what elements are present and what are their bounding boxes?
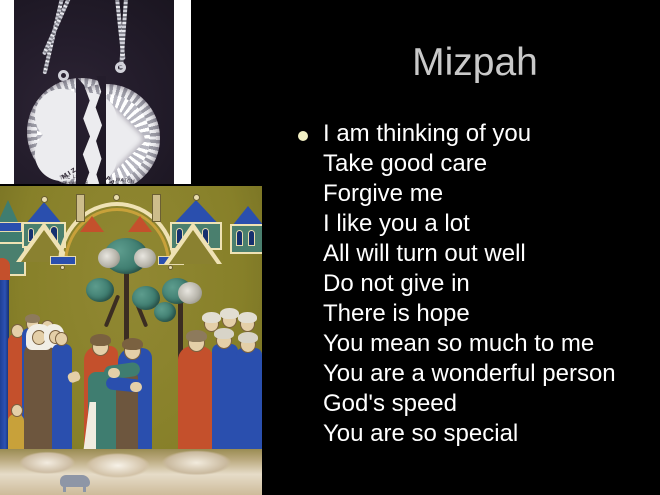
list-item-label: All will turn out well	[323, 240, 526, 267]
list-item: Forgive me	[296, 179, 656, 209]
list-item: Take good care	[296, 149, 656, 179]
list-item: All will turn out well	[296, 239, 656, 269]
arch-finial	[113, 194, 120, 201]
list-item-label: There is hope	[323, 300, 470, 327]
list-item: I am thinking of you	[296, 119, 656, 149]
medieval-manuscript-image	[0, 186, 262, 495]
figure-hair	[238, 312, 257, 323]
list-item: I like you a lot	[296, 209, 656, 239]
list-item-label: God's speed	[323, 390, 457, 417]
roof-finial	[193, 194, 200, 201]
list-item-label: Do not give in	[323, 270, 470, 297]
list-item: You mean so much to me	[296, 329, 656, 359]
page-title: Mizpah	[290, 41, 660, 85]
figure-hair	[25, 314, 40, 323]
figure-hair	[122, 338, 143, 350]
arch-pedestal-left	[50, 256, 76, 265]
list-item-label: I am thinking of you	[323, 120, 531, 147]
bullet-list: I am thinking of you Take good care Forg…	[296, 119, 656, 449]
figure-head	[55, 332, 68, 346]
list-item-label: I like you a lot	[323, 210, 470, 237]
tree-foliage-light	[98, 248, 120, 268]
body-far-right	[230, 224, 262, 254]
list-item: Do not give in	[296, 269, 656, 299]
tree-foliage-left	[86, 278, 114, 302]
list-item-label: You mean so much to me	[323, 330, 594, 357]
tree-foliage-right-light	[178, 282, 202, 304]
list-item-label: Forgive me	[323, 180, 443, 207]
figure-head	[11, 404, 23, 417]
pedestal-far-left	[0, 222, 22, 232]
figure-hair	[214, 328, 234, 339]
list-item-label: You are so special	[323, 420, 518, 447]
list-item: There is hope	[296, 299, 656, 329]
arch-spandrel-left	[0, 258, 10, 280]
tree-foliage-right-lower	[154, 302, 176, 322]
figure-hair	[186, 330, 207, 342]
list-item-label: Take good care	[323, 150, 487, 177]
list-item: God's speed	[296, 389, 656, 419]
figure-hand	[130, 382, 142, 392]
figure-hair	[202, 312, 221, 323]
pendant-half-right: PAH Watch Me and Thee We are Absent Anot…	[86, 84, 160, 184]
window-icon	[248, 230, 255, 246]
pedestal-drop-left	[60, 265, 65, 270]
figure-hair	[220, 308, 239, 319]
tower-right	[152, 194, 161, 222]
window-icon	[236, 230, 243, 246]
tree-foliage-light	[134, 248, 156, 268]
slide-canvas: MIZ The Lord Between While One From PAH …	[0, 0, 660, 495]
tower-left	[76, 194, 85, 222]
list-item: You are so special	[296, 419, 656, 449]
figure-hair	[238, 332, 258, 343]
figure-hair	[90, 334, 111, 346]
bail-ring-right	[115, 62, 126, 73]
list-item: You are a wonderful person	[296, 359, 656, 389]
bullet-icon	[298, 131, 308, 141]
roof-finial	[41, 196, 48, 203]
manuscript-ground	[0, 449, 262, 495]
pendant-photo-inner: MIZ The Lord Between While One From PAH …	[14, 0, 174, 184]
dog-figure	[60, 475, 90, 487]
pedestal-drop-right	[168, 265, 173, 270]
figure-hand	[108, 368, 120, 378]
list-item-label: You are a wonderful person	[323, 360, 616, 387]
mizpah-pendant-image: MIZ The Lord Between While One From PAH …	[0, 0, 191, 184]
